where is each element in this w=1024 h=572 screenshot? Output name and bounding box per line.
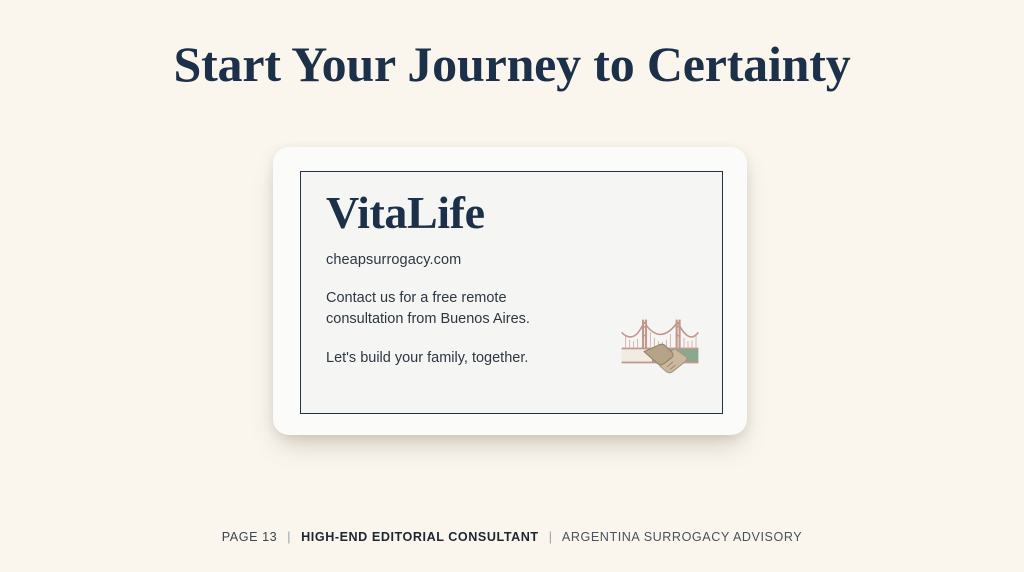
page-title: Start Your Journey to Certainty xyxy=(0,36,1024,92)
brand-name: VitaLife xyxy=(326,190,708,236)
business-card-border: VitaLife cheapsurrogacy.com Contact us f… xyxy=(300,171,723,414)
footer-page-label: PAGE 13 xyxy=(222,530,277,544)
card-message-line-1: Contact us for a free remote consultatio… xyxy=(326,288,586,329)
card-message: Contact us for a free remote consultatio… xyxy=(326,288,586,369)
card-message-line-2: Let's build your family, together. xyxy=(326,348,586,369)
footer-separator-2: | xyxy=(543,530,559,544)
business-card: VitaLife cheapsurrogacy.com Contact us f… xyxy=(273,147,747,435)
slide-footer: PAGE 13 | HIGH-END EDITORIAL CONSULTANT … xyxy=(0,530,1024,544)
footer-organization: ARGENTINA SURROGACY ADVISORY xyxy=(562,530,802,544)
bridge-handshake-icon xyxy=(620,313,700,379)
footer-separator-1: | xyxy=(281,530,297,544)
brand-website: cheapsurrogacy.com xyxy=(326,252,708,268)
business-card-content: VitaLife cheapsurrogacy.com Contact us f… xyxy=(326,190,708,403)
footer-role: HIGH-END EDITORIAL CONSULTANT xyxy=(301,530,539,544)
